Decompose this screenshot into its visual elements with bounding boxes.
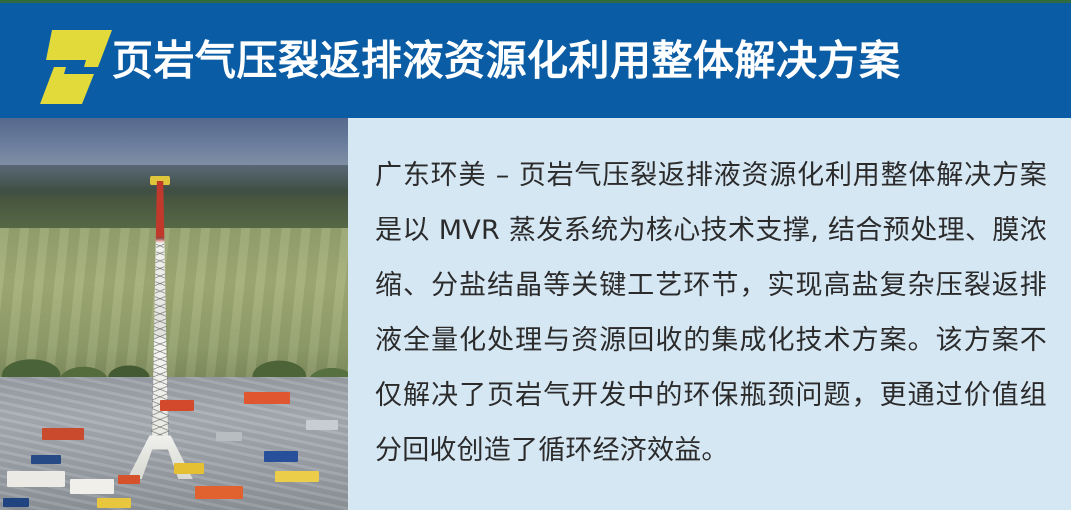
equipment-blue-truck-2 xyxy=(264,451,298,462)
equipment-blue-truck-1 xyxy=(31,455,61,464)
equipment-white-trailer-2 xyxy=(70,479,114,494)
equipment-orange-tank-1 xyxy=(195,486,243,499)
equipment-white-trailer-1 xyxy=(7,471,65,487)
equipment-yellow-tank-1 xyxy=(275,471,319,482)
equipment-red-tank-2 xyxy=(244,392,290,404)
equipment-orange-tank-2 xyxy=(118,475,140,484)
numeral-two-icon xyxy=(38,27,116,107)
equipment-grey-container-2 xyxy=(216,432,242,441)
solution-section-card: 页岩气压裂返排液资源化利用整体解决方案 xyxy=(0,0,1071,510)
rig-site-photo xyxy=(0,118,348,510)
equipment-red-tank-1 xyxy=(160,400,194,411)
page-title: 页岩气压裂返排液资源化利用整体解决方案 xyxy=(112,40,901,81)
solution-description-text: 广东环美 – 页岩气压裂返排液资源化利用整体解决方案是以 MVR 蒸发系统为核心… xyxy=(375,148,1047,478)
equipment-grey-container-1 xyxy=(306,420,338,430)
equipment-blue-truck-3 xyxy=(3,498,29,507)
description-panel: 广东环美 – 页岩气压裂返排液资源化利用整体解决方案是以 MVR 蒸发系统为核心… xyxy=(348,118,1071,510)
section-body: 广东环美 – 页岩气压裂返排液资源化利用整体解决方案是以 MVR 蒸发系统为核心… xyxy=(0,118,1071,510)
photo-scene xyxy=(0,118,348,510)
section-header-bar: 页岩气压裂返排液资源化利用整体解决方案 xyxy=(0,0,1071,118)
equipment-red-tank-3 xyxy=(42,428,84,440)
section-number-badge xyxy=(38,27,116,107)
equipment-yellow-tank-2 xyxy=(97,498,131,508)
equipment-yellow-truck-1 xyxy=(174,463,204,474)
